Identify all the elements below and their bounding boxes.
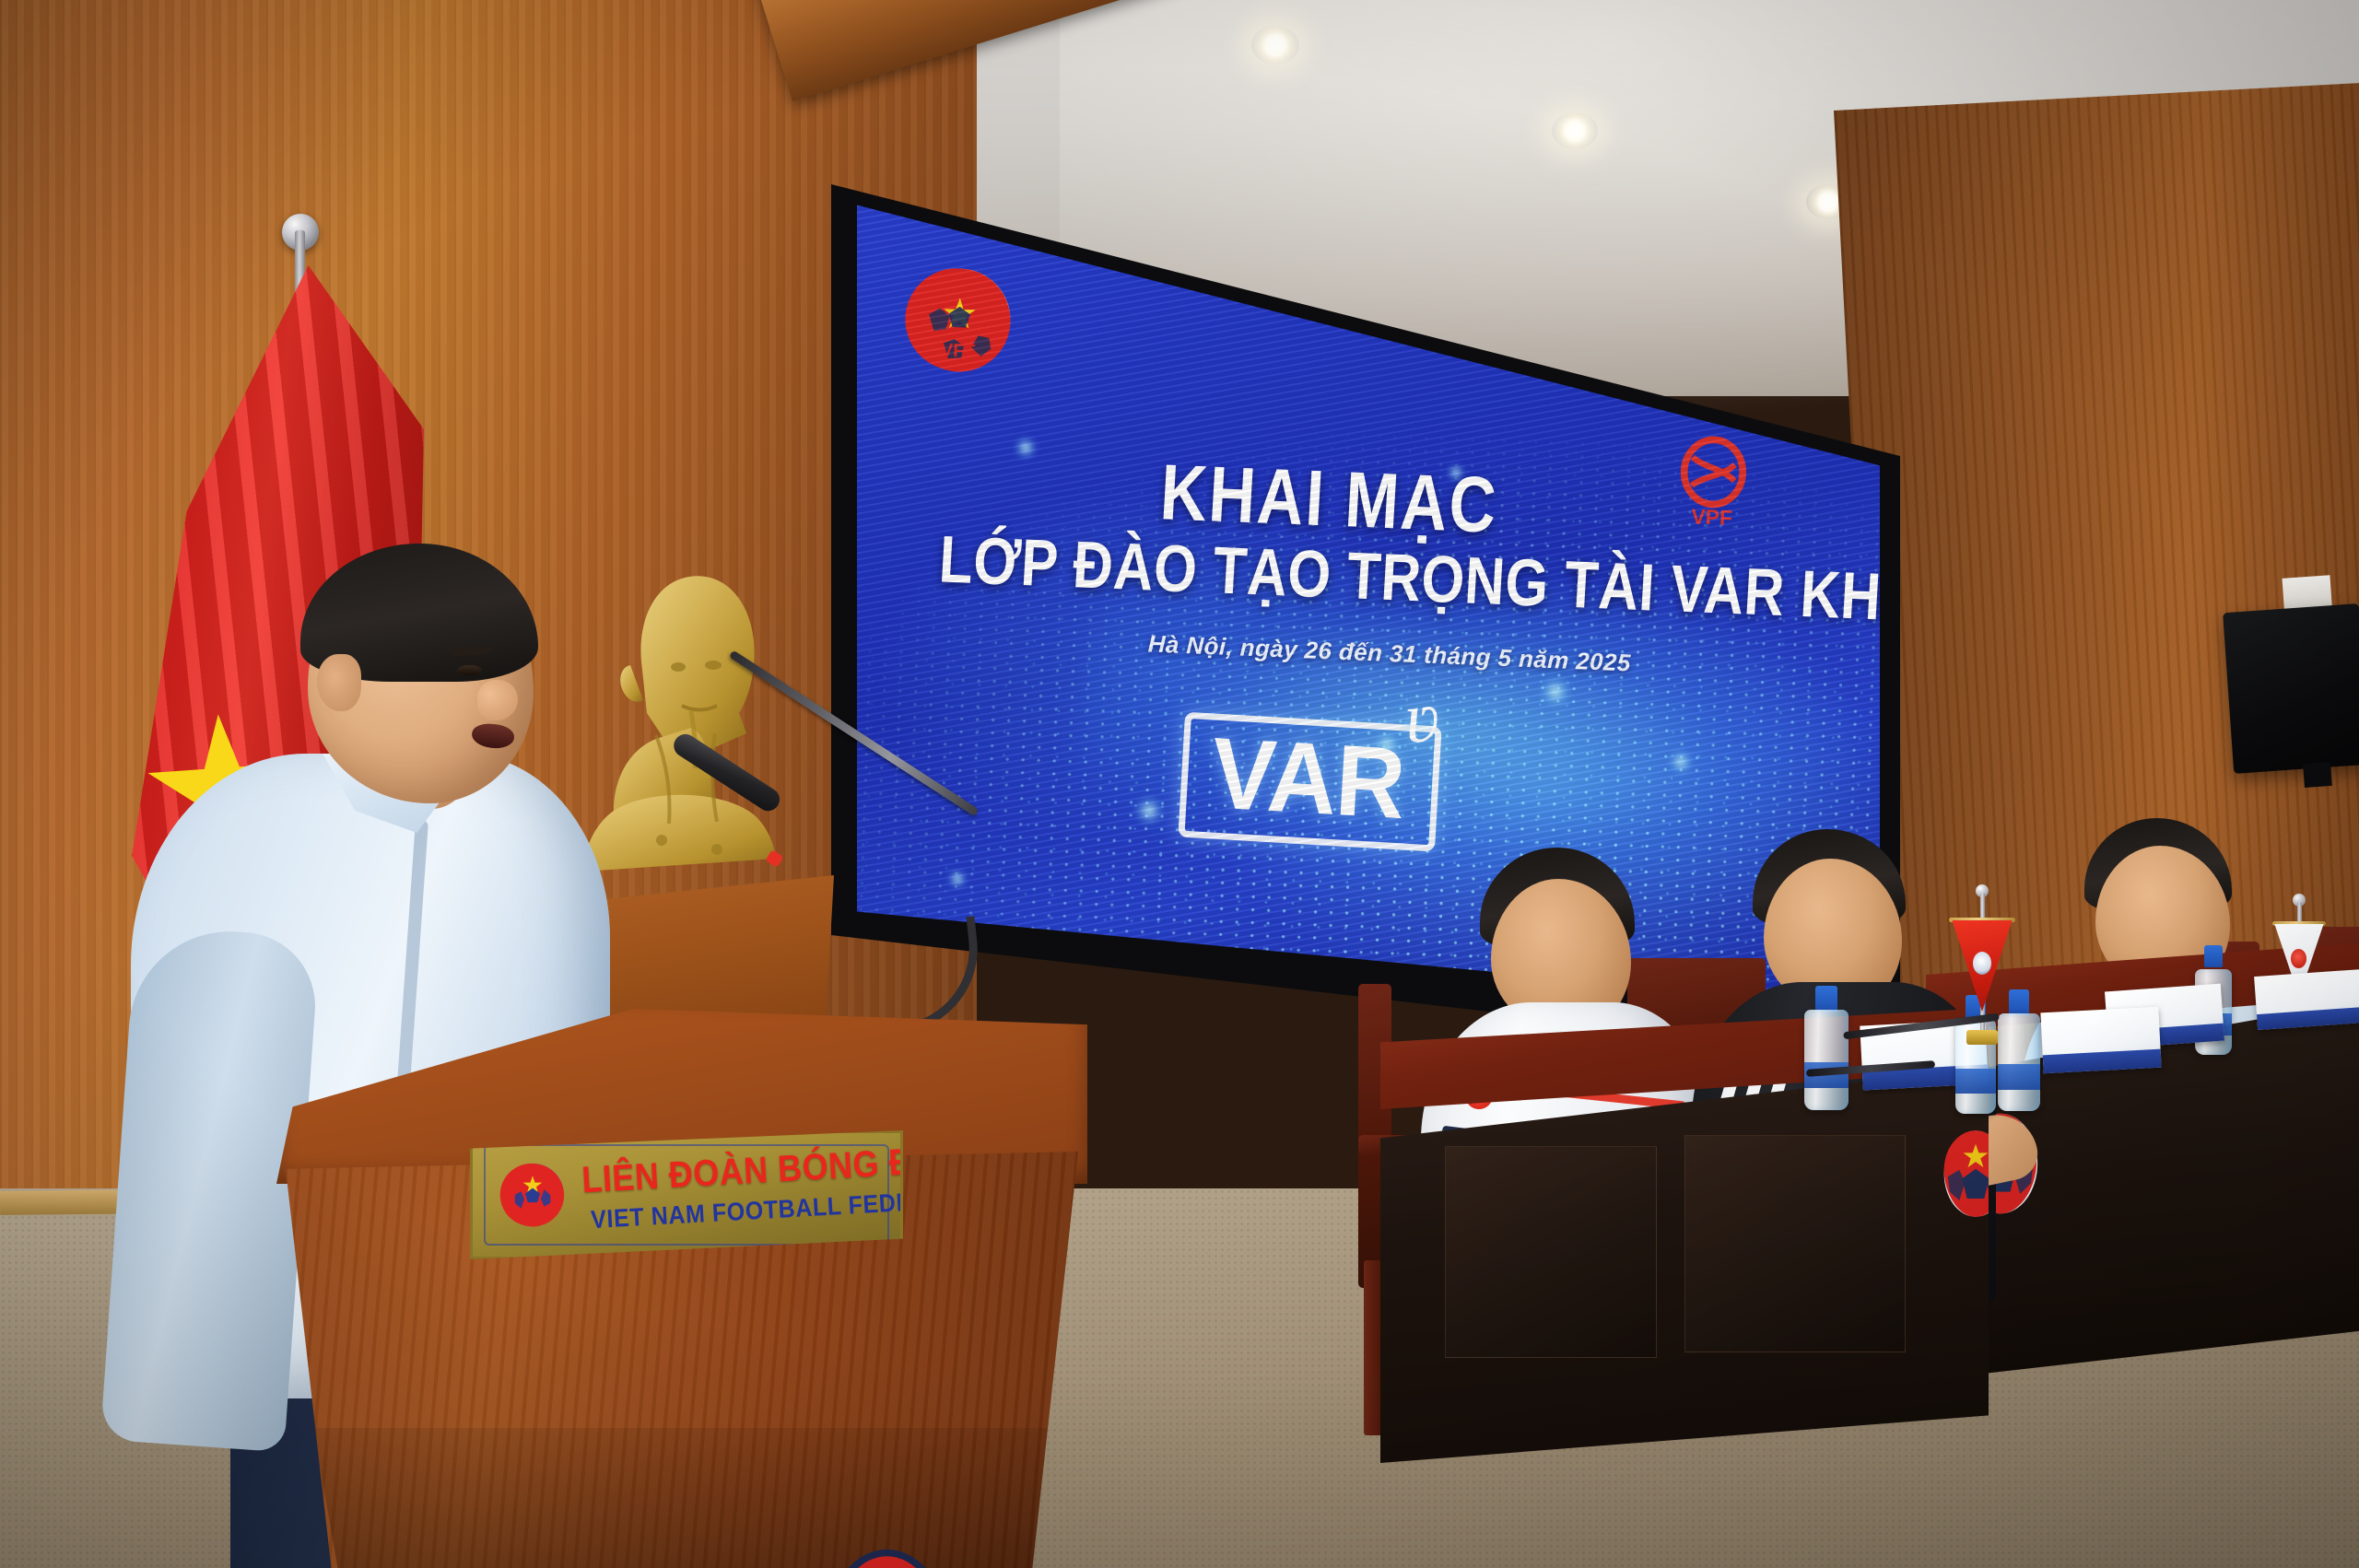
name-card-2 [2040, 1007, 2161, 1074]
bottle-cap [1815, 986, 1837, 1012]
wall-mounted-tv [2223, 603, 2359, 774]
podium-nameplate: VFF LIÊN ĐOÀN BÓNG ĐÁ VIỆT NAM VIET NAM … [470, 1130, 903, 1259]
speaker-eye [457, 665, 482, 675]
speaker-ear [317, 654, 361, 711]
svg-text:VFF: VFF [522, 1210, 543, 1223]
var-logo-text: VAR [1209, 723, 1407, 835]
pennant-cloth [1952, 920, 2012, 1012]
bottle-label [1955, 1069, 1996, 1094]
vff-logo-icon [802, 1548, 972, 1568]
bottle-body [1804, 1010, 1848, 1110]
bottle-cap [2204, 945, 2222, 967]
speaking-podium: VFF LIÊN ĐOÀN BÓNG ĐÁ VIỆT NAM VIET NAM … [276, 1009, 1087, 1568]
screen-date-line: Hà Nội, ngày 26 đến 31 tháng 5 năm 2025 [1147, 629, 1631, 677]
pennant-emblem [2291, 949, 2306, 968]
table-front-panel [1380, 1067, 1989, 1463]
var-logo-box: VAR [1178, 712, 1441, 852]
screen-subtitle: LỚP ĐÀO TẠO TRỌNG TÀI VAR KHÓA 4 - BƯỚC … [937, 521, 1880, 650]
vff-logo-icon: VFF [499, 1161, 567, 1229]
conference-room-scene: VFF VPF KHAI MẠC LỚP ĐÀO TẠO TRỌNG TÀI V… [0, 0, 2359, 1568]
tv-mount-arm [2303, 762, 2332, 788]
downlight-2 [1552, 112, 1598, 149]
var-logo: VAR ʋ [1178, 712, 1441, 852]
water-bottle-1[interactable] [1804, 986, 1848, 1118]
downlight-1 [1251, 26, 1299, 64]
pennant-base [1966, 1030, 1998, 1045]
name-card-4 [2254, 969, 2359, 1030]
var-logo-swoosh: ʋ [1402, 674, 1443, 760]
table-panel-inset [1684, 1135, 1906, 1352]
bottle-label [1998, 1064, 2040, 1090]
pennant-emblem [1973, 952, 1992, 976]
table-panel-inset [1445, 1146, 1657, 1358]
